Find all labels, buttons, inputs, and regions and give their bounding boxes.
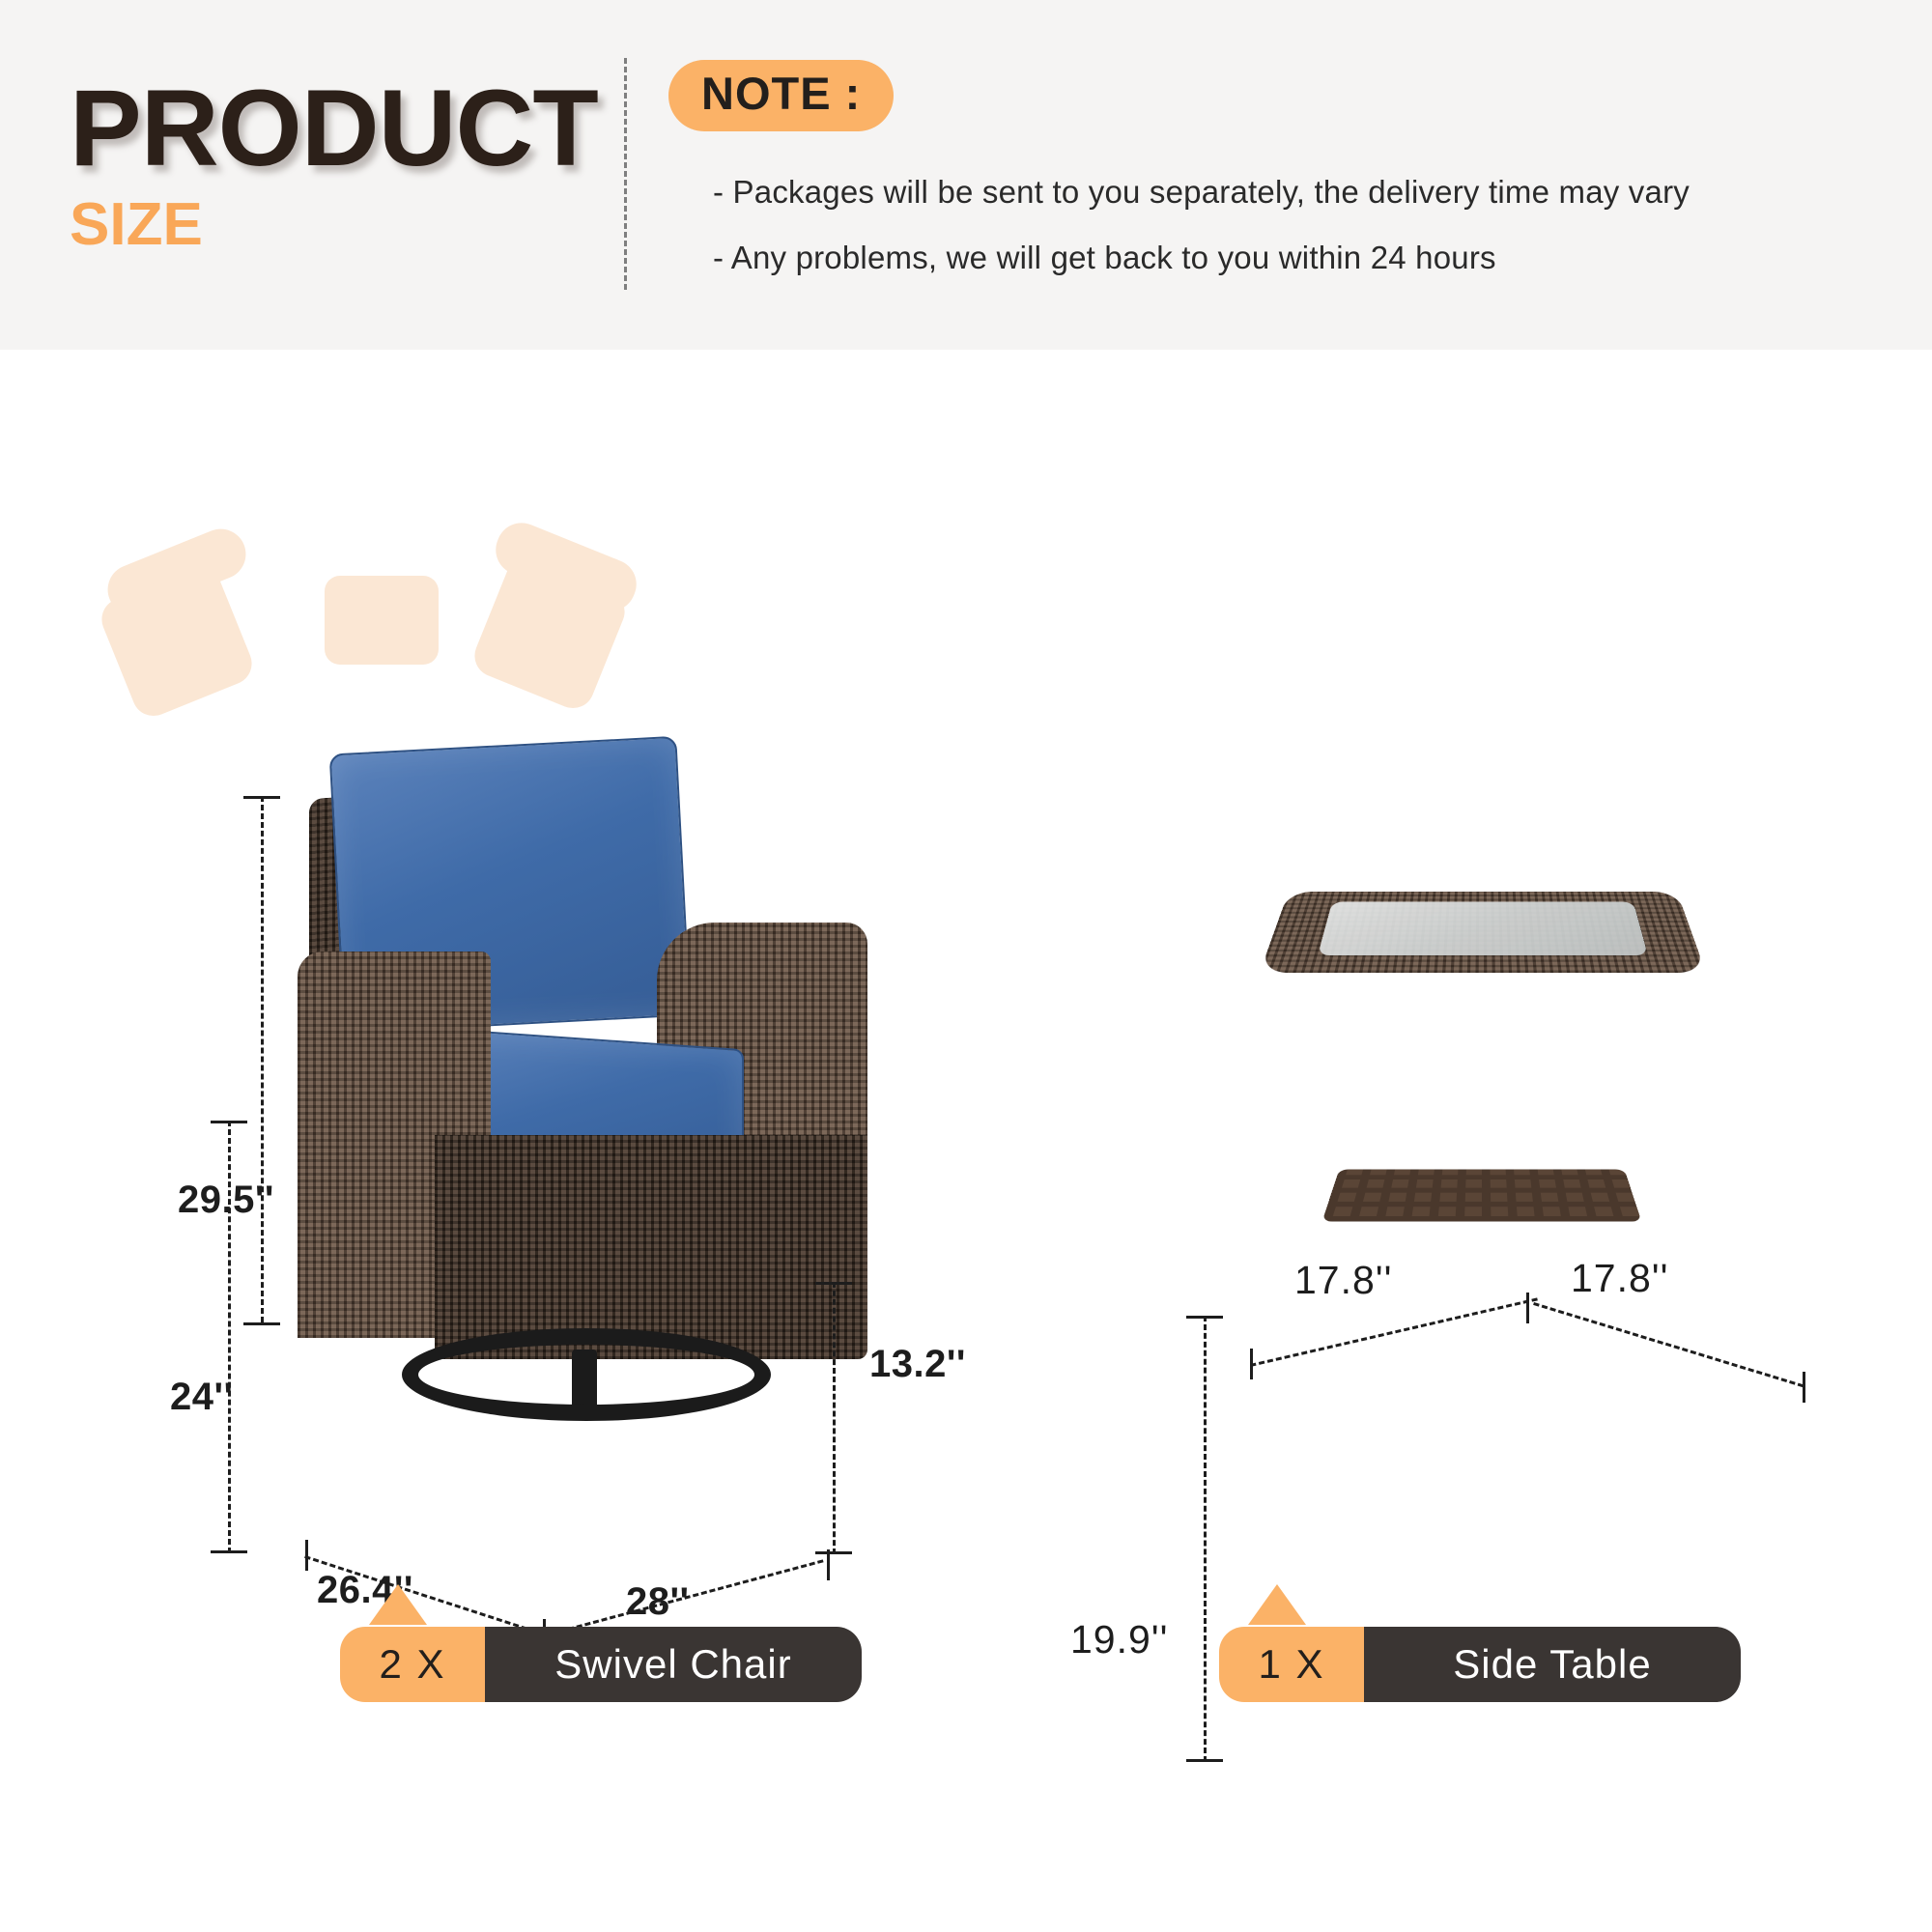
table-height-guide-line	[1204, 1316, 1207, 1762]
table-lower-shelf	[1321, 1169, 1641, 1221]
vertical-dashed-divider	[624, 58, 627, 290]
table-width-tick-center	[1526, 1293, 1529, 1323]
title-size-word: SIZE	[70, 187, 611, 263]
note-badge-label: NOTE :	[701, 68, 861, 119]
header-banner: PRODUCT SIZE NOTE : - Packages will be s…	[0, 0, 1932, 350]
chair-seat-height-tick-bottom	[815, 1551, 852, 1554]
chair-seat-height-guide-line	[833, 1282, 836, 1554]
table-top-width-label: 17.8''	[1294, 1258, 1392, 1303]
note-line-support: - Any problems, we will get back to you …	[713, 240, 1496, 276]
note-badge: NOTE :	[668, 60, 894, 131]
side-table-quantity: 1 X	[1219, 1627, 1364, 1702]
side-table-badge[interactable]: 1 X Side Table	[1219, 1584, 1741, 1702]
swivel-chair-name: Swivel Chair	[485, 1627, 862, 1702]
swivel-chair-badge[interactable]: 2 X Swivel Chair	[340, 1584, 862, 1702]
table-top-depth-label: 17.8''	[1571, 1256, 1668, 1301]
product-diagram-stage: 24'' 29.5'' 13.2'' 26.4'' 28'' 17.8'' 17…	[0, 350, 1932, 1932]
chair-height-tick-top	[243, 796, 280, 799]
table-height-tick-top	[1186, 1316, 1223, 1319]
table-leg-center	[1275, 864, 1690, 878]
page-title: PRODUCT SIZE	[70, 75, 611, 262]
chair-arm-height-guide-line	[228, 1121, 231, 1553]
table-depth-tick-right	[1803, 1372, 1805, 1403]
table-leg-left	[1277, 846, 1690, 896]
chair-seat-height-tick-top	[815, 1282, 852, 1285]
table-glass-surface	[1318, 901, 1648, 955]
chair-height-guide-line	[261, 796, 264, 1322]
triangle-pointer-icon	[369, 1584, 427, 1625]
table-height-label: 19.9''	[1070, 1617, 1168, 1662]
chair-depth-tick-start	[305, 1540, 308, 1571]
chair-swivel-base	[402, 1328, 771, 1421]
chair-arm-height-tick-top	[211, 1121, 247, 1123]
chair-arm-height-label: 24''	[170, 1376, 234, 1419]
note-line-delivery: - Packages will be sent to you separatel…	[713, 174, 1690, 211]
side-table-name: Side Table	[1364, 1627, 1741, 1702]
table-height-tick-bottom	[1186, 1759, 1223, 1762]
chair-seat-height-label: 13.2''	[869, 1343, 966, 1386]
swivel-chair-illustration	[290, 731, 908, 1533]
side-table-illustration	[1275, 871, 1690, 1509]
title-product-word: PRODUCT	[70, 75, 611, 182]
table-leg-right	[1277, 846, 1690, 896]
table-width-tick-left	[1250, 1349, 1253, 1379]
chair-body	[435, 1135, 867, 1359]
chair-arm-height-tick-bottom	[211, 1550, 247, 1553]
chair-width-tick-end	[827, 1549, 830, 1580]
chair-height-tick-bottom	[243, 1322, 280, 1325]
triangle-pointer-icon	[1248, 1584, 1306, 1625]
swivel-chair-quantity: 2 X	[340, 1627, 485, 1702]
chair-overall-height-label: 29.5''	[178, 1179, 274, 1222]
